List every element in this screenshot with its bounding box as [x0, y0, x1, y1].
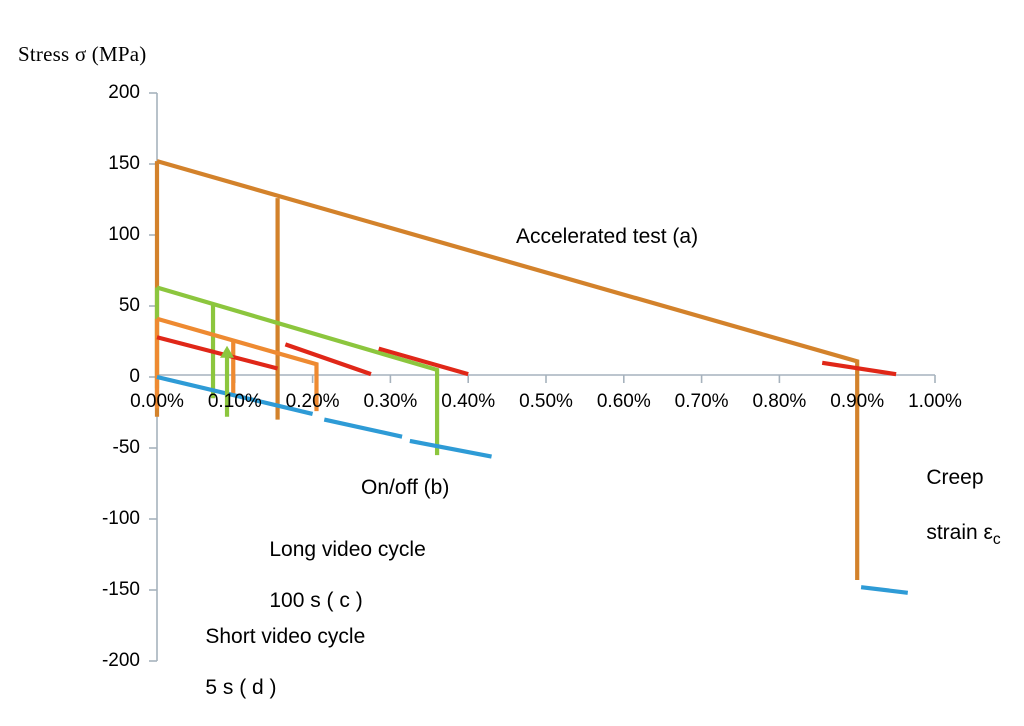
x-axis-title-line2: strain ε	[926, 521, 993, 544]
y-tick-label: 100	[84, 223, 140, 246]
x-tick-label: 0.10%	[190, 390, 280, 413]
series-lower-envelope-baseline-segment	[410, 441, 492, 457]
y-tick-label: 50	[84, 294, 140, 317]
x-tick-label: 0.80%	[734, 390, 824, 413]
x-tick-label: 1.00%	[890, 390, 980, 413]
annotation-short-video-cycle-line2: 5 s ( d )	[205, 676, 276, 699]
x-tick-label: 0.60%	[579, 390, 669, 413]
annotation-on-off: On/off (b)	[361, 475, 449, 501]
x-axis-title-subscript: c	[993, 531, 1001, 548]
x-tick-label: 0.40%	[423, 390, 513, 413]
y-tick-label: 0	[84, 365, 140, 388]
annotation-long-video-cycle-line1: Long video cycle	[269, 538, 425, 561]
creep-stress-chart: Stress σ (MPa) Creep strain εc 200150100…	[0, 0, 1024, 717]
x-tick-label: 0.20%	[268, 390, 358, 413]
series-lower-envelope-baseline-segment	[861, 587, 908, 593]
x-tick-label: 0.00%	[112, 390, 202, 413]
x-tick-label: 0.30%	[345, 390, 435, 413]
y-tick-label: -200	[84, 649, 140, 672]
annotation-short-video-cycle: Short video cycle 5 s ( d )	[182, 598, 365, 726]
x-tick-label: 0.50%	[501, 390, 591, 413]
y-tick-label: 200	[84, 81, 140, 104]
chart-plot-area	[0, 0, 1024, 717]
x-axis-title-line1: Creep	[926, 466, 983, 489]
series-short-video-cycle-5-s-d-segment	[379, 349, 468, 375]
x-tick-label: 0.70%	[657, 390, 747, 413]
y-axis-title: Stress σ (MPa)	[18, 42, 146, 68]
y-tick-label: 150	[84, 152, 140, 175]
y-tick-label: -50	[84, 436, 140, 459]
annotation-accelerated-test: Accelerated test (a)	[516, 224, 698, 250]
x-tick-label: 0.90%	[812, 390, 902, 413]
y-tick-label: -100	[84, 507, 140, 530]
x-axis-ticks	[157, 375, 935, 383]
series-lower-envelope-baseline-segment	[324, 420, 402, 437]
series-short-video-cycle-5-s-d-segment	[157, 337, 278, 368]
x-axis-title: Creep strain εc	[903, 437, 1001, 578]
y-tick-label: -150	[84, 578, 140, 601]
annotation-short-video-cycle-line1: Short video cycle	[205, 625, 365, 648]
series-on-off-b	[157, 288, 437, 456]
